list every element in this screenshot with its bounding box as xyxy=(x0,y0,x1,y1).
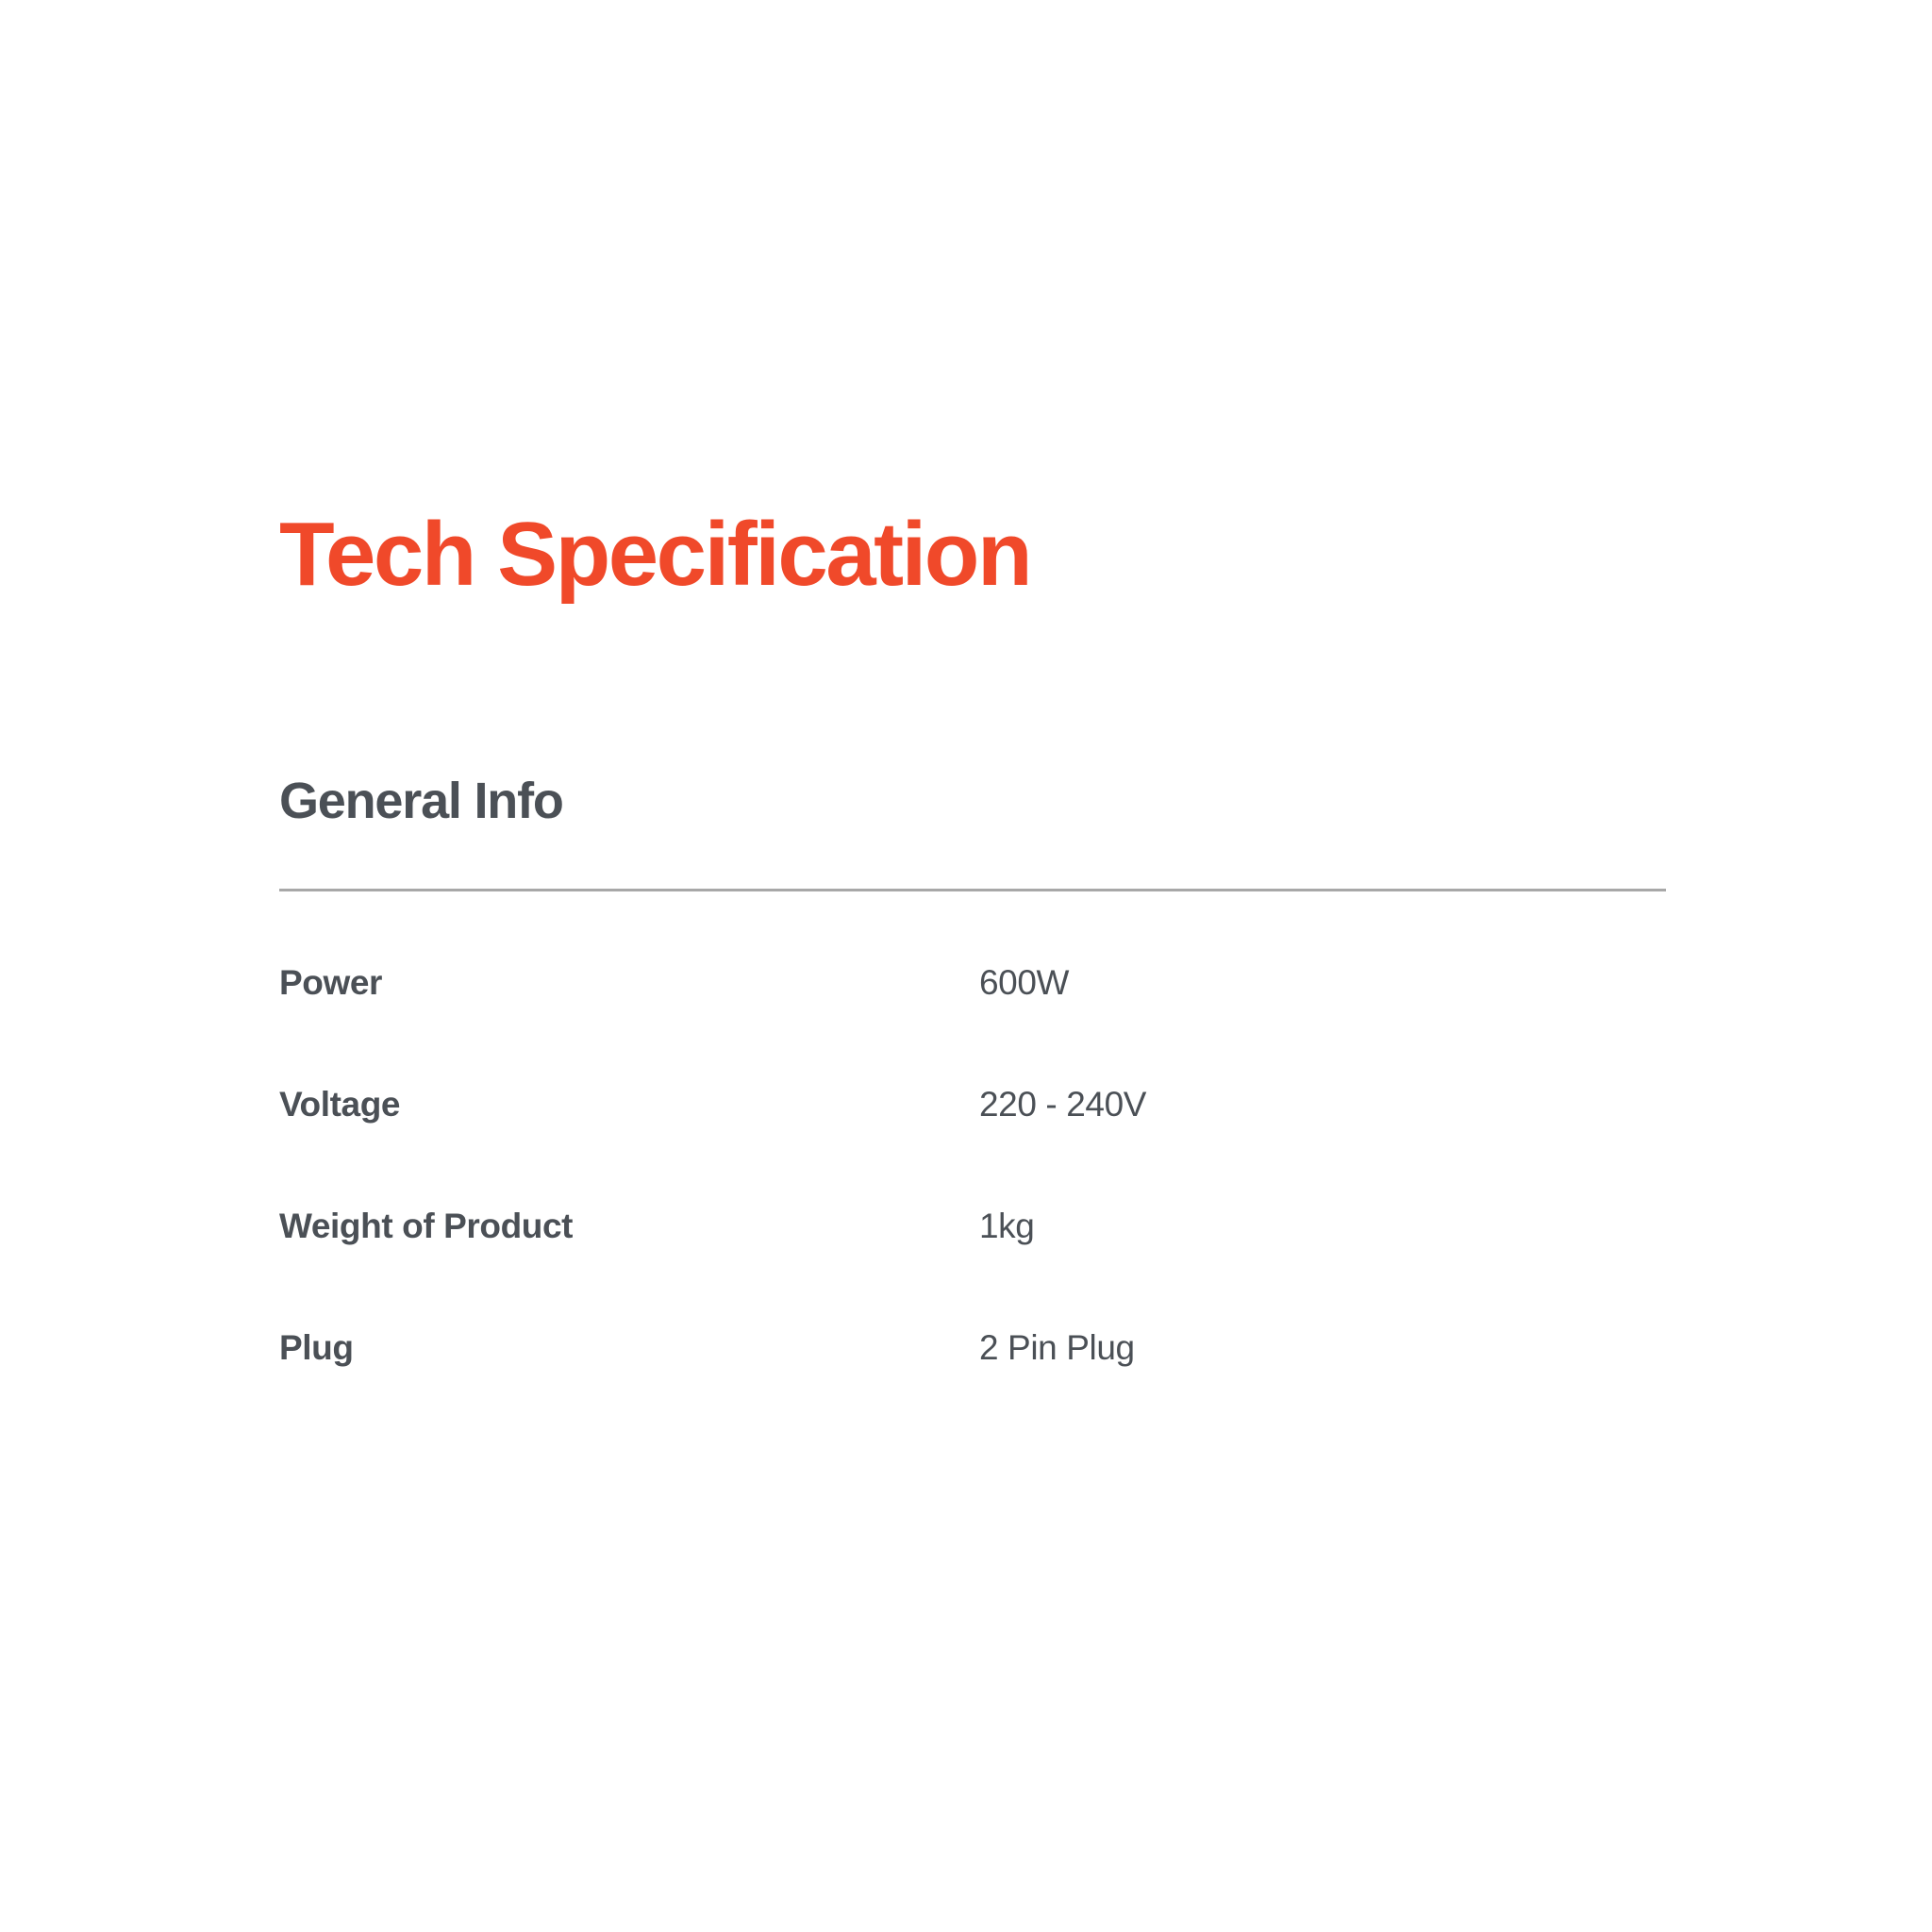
tech-specification-page: Tech Specification General Info Power 60… xyxy=(0,0,1932,1932)
spec-table-body: Power 600W Voltage 220 - 240V Weight of … xyxy=(279,965,1666,1452)
page-title: Tech Specification xyxy=(279,509,1666,600)
table-row: Plug 2 Pin Plug xyxy=(279,1330,1666,1452)
table-row: Power 600W xyxy=(279,965,1666,1087)
tech-specification-section: Tech Specification General Info Power 60… xyxy=(279,509,1666,1452)
general-info-spec-table: Power 600W Voltage 220 - 240V Weight of … xyxy=(279,965,1666,1452)
table-row: Voltage 220 - 240V xyxy=(279,1087,1666,1208)
table-row: Weight of Product 1kg xyxy=(279,1208,1666,1330)
section-heading-general-info: General Info xyxy=(279,775,1666,826)
spec-label-voltage: Voltage xyxy=(279,1087,979,1208)
section-divider xyxy=(279,889,1666,891)
spec-label-power: Power xyxy=(279,965,979,1087)
spec-label-weight-of-product: Weight of Product xyxy=(279,1208,979,1330)
spec-value-power: 600W xyxy=(979,965,1666,1087)
spec-label-plug: Plug xyxy=(279,1330,979,1452)
spec-value-voltage: 220 - 240V xyxy=(979,1087,1666,1208)
spec-value-weight-of-product: 1kg xyxy=(979,1208,1666,1330)
spec-value-plug: 2 Pin Plug xyxy=(979,1330,1666,1452)
